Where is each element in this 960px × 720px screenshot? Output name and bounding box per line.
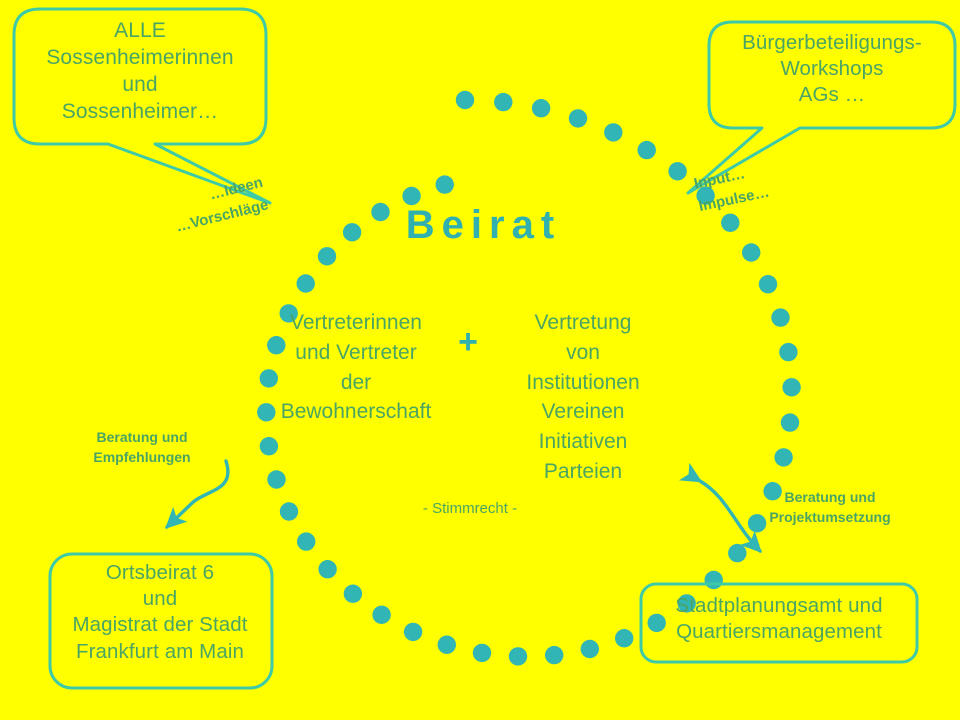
arrow-label-advice-project-implementation: Beratung und Projektumsetzung (742, 487, 918, 528)
ring-column-residents: Vertreterinnen und Vertreter der Bewohne… (268, 308, 444, 427)
ring-column-institutions: Vertretung von Institutionen Vereinen In… (492, 308, 674, 487)
diagram-canvas: ALLE Sossenheimerinnen und Sossenheimer…… (0, 0, 960, 720)
arrow-advice-recommendations (167, 461, 228, 527)
ring-footnote-voting-right: - Stimmrecht - (330, 500, 610, 517)
plus-icon: + (443, 325, 493, 359)
diagram-title-beirat: Beirat (0, 203, 960, 248)
callout-top-left-text: ALLE Sossenheimerinnen und Sossenheimer… (20, 18, 260, 126)
box-bottom-right-text: Stadtplanungsamt und Quartiersmanagement (646, 593, 912, 645)
callout-top-right-text: Bürgerbeteiligungs- Workshops AGs … (714, 30, 950, 109)
arrow-label-advice-recommendations: Beratung und Empfehlungen (72, 427, 212, 468)
box-bottom-left-text: Ortsbeirat 6 und Magistrat der Stadt Fra… (52, 560, 268, 665)
